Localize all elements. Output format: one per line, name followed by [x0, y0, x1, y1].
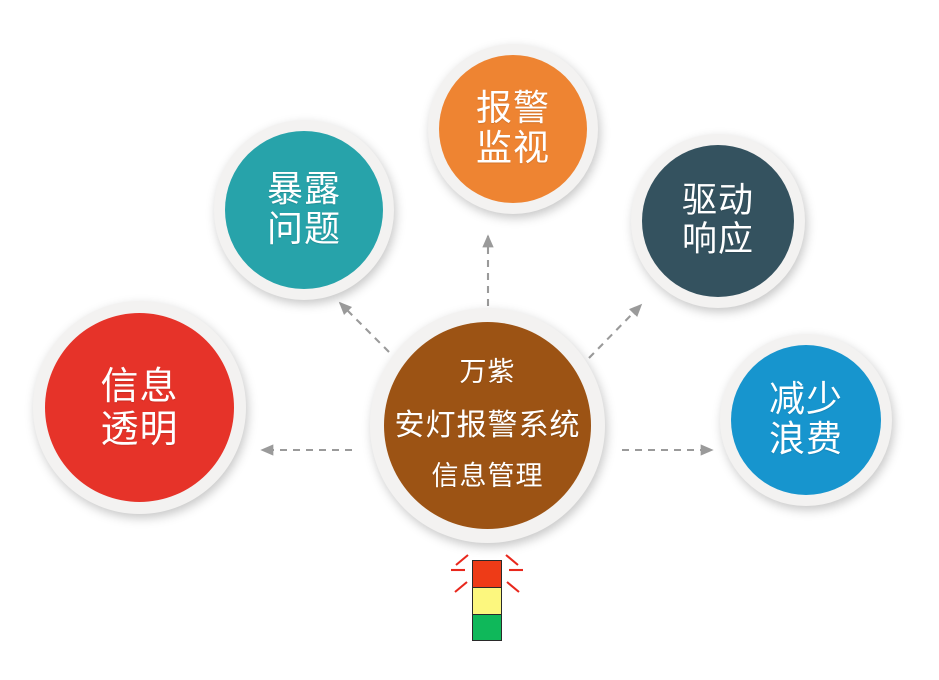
andon-lamp-stack	[472, 560, 502, 641]
node-label-line-1: 报警	[476, 89, 550, 129]
node-center-andon-system[interactable]: 万紫 安灯报警系统 信息管理	[370, 308, 605, 543]
node-label: 暴露 问题	[267, 170, 341, 251]
node-label-line-1: 驱动	[682, 182, 754, 221]
node-label-line-2: 透明	[100, 408, 178, 451]
connector-center-to-expose	[340, 303, 389, 352]
node-expose-problems[interactable]: 暴露 问题	[214, 120, 394, 300]
node-drive-response[interactable]: 驱动 响应	[631, 134, 805, 308]
node-label: 驱动 响应	[682, 182, 754, 260]
andon-light-tower	[449, 549, 527, 647]
node-label: 报警 监视	[476, 89, 550, 170]
node-reduce-waste[interactable]: 减少 浪费	[720, 334, 892, 506]
node-label-line-1: 信息	[100, 365, 178, 408]
center-label-line-3: 信息管理	[395, 462, 581, 492]
connector-center-to-drive	[589, 305, 641, 358]
center-label-line-2: 安灯报警系统	[395, 409, 581, 443]
node-label-line-1: 减少	[769, 380, 843, 420]
node-information-transparency[interactable]: 信息 透明	[33, 301, 246, 514]
node-label-line-2: 问题	[267, 210, 341, 250]
node-label: 信息 透明	[100, 365, 178, 450]
node-alarm-monitoring[interactable]: 报警 监视	[428, 44, 598, 214]
andon-green-lamp	[472, 614, 502, 641]
node-label-line-2: 浪费	[769, 420, 843, 460]
andon-red-lamp	[472, 560, 502, 587]
node-label-line-2: 监视	[476, 129, 550, 169]
center-label-line-1: 万紫	[395, 358, 581, 388]
center-node-label: 万紫 安灯报警系统 信息管理	[395, 358, 581, 492]
node-label: 减少 浪费	[769, 380, 843, 461]
node-label-line-1: 暴露	[267, 170, 341, 210]
node-label-line-2: 响应	[682, 221, 754, 260]
diagram-canvas: 信息 透明 暴露 问题 报警 监视 驱动 响应 减少	[0, 0, 939, 680]
andon-yellow-lamp	[472, 587, 502, 614]
